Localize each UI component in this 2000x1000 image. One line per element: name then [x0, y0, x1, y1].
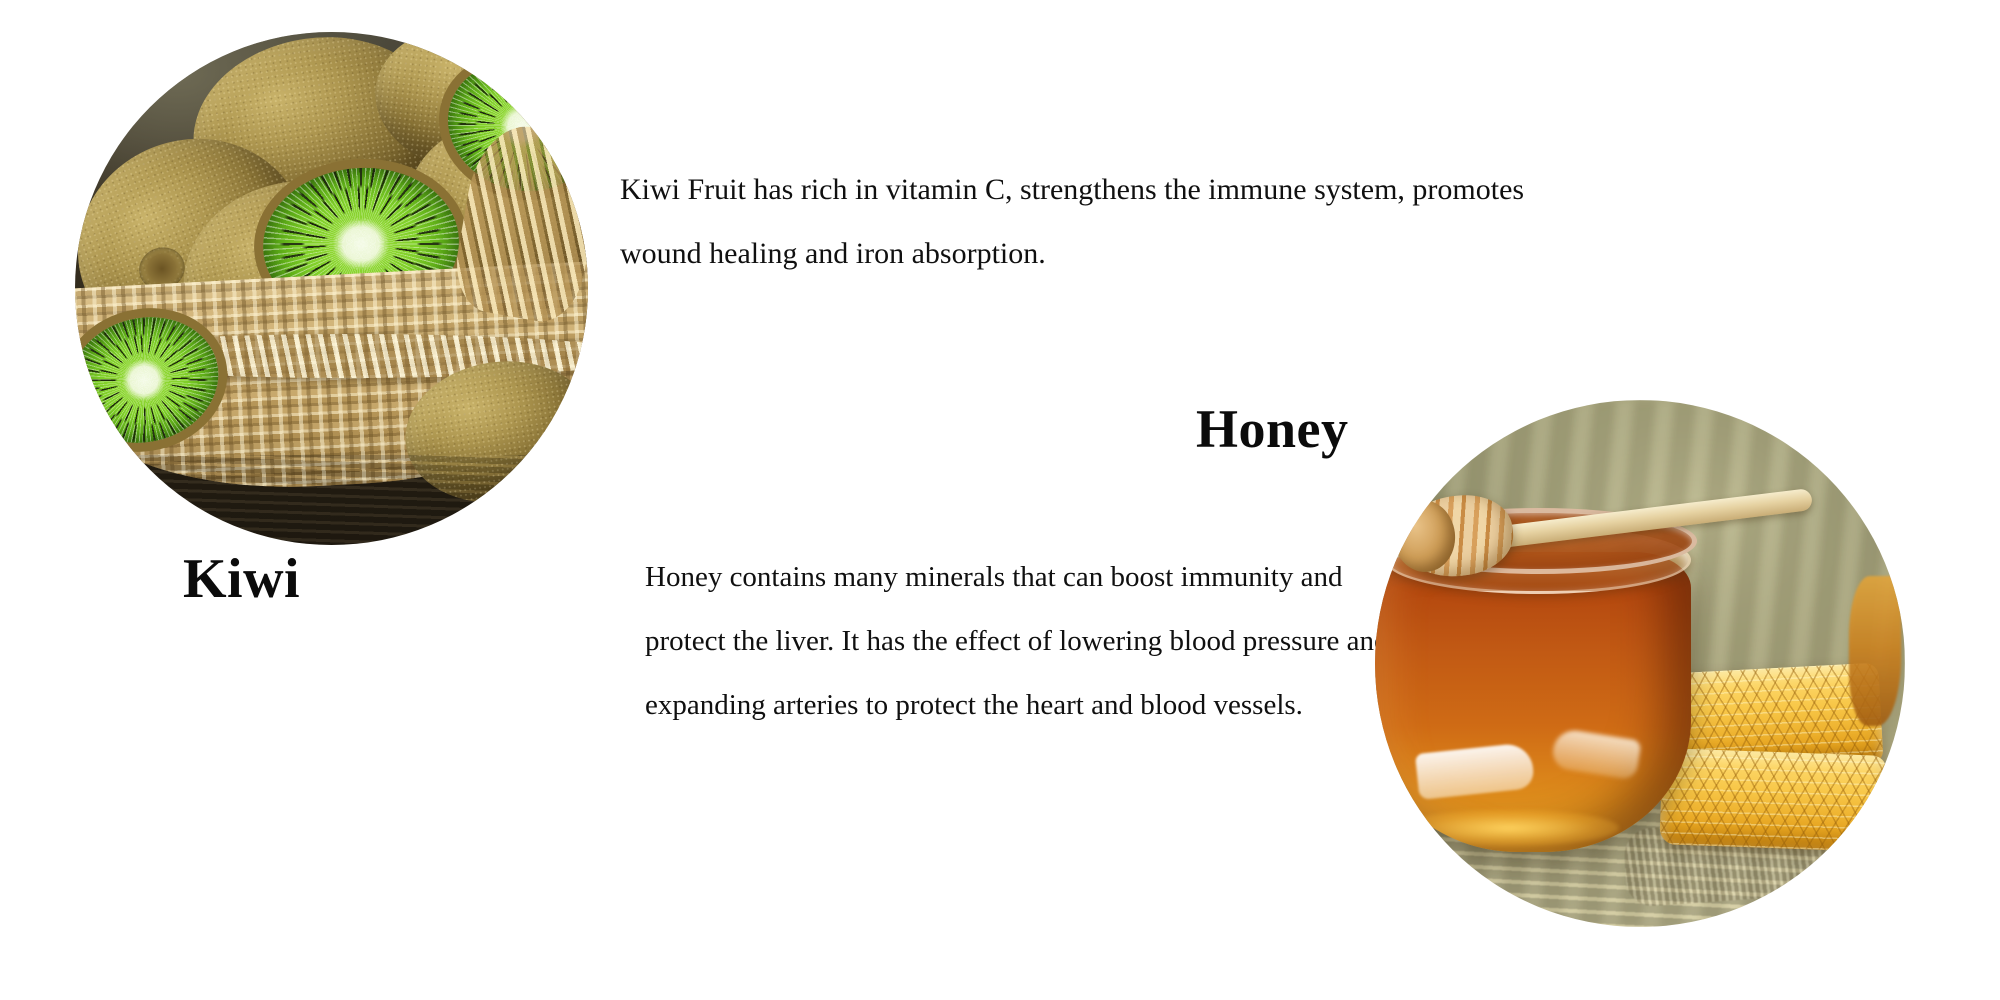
- jar-highlight: [1415, 742, 1535, 800]
- honey-heading: Honey: [1196, 402, 1349, 456]
- honey-description: Honey contains many minerals that can bo…: [645, 545, 1390, 737]
- kiwi-heading: Kiwi: [183, 551, 300, 607]
- jar-highlight: [1550, 728, 1641, 781]
- wooden-table-surface: [75, 455, 588, 545]
- kiwi-fruit-basket-photo: [75, 32, 588, 545]
- honey-photo-content: [1375, 400, 1905, 927]
- honey-jar-photo: [1375, 400, 1905, 927]
- honeycomb-chunk: [1659, 748, 1886, 852]
- kiwi-photo-content: [75, 32, 588, 545]
- honey-drip: [1849, 576, 1901, 726]
- kiwi-description: Kiwi Fruit has rich in vitamin C, streng…: [620, 158, 1555, 286]
- honeycomb-cells: [1659, 748, 1886, 852]
- page-canvas: Kiwi Kiwi Fruit has rich in vitamin C, s…: [0, 0, 2000, 1000]
- jar-bottom-glow: [1399, 810, 1619, 846]
- honey-jar: [1375, 552, 1691, 852]
